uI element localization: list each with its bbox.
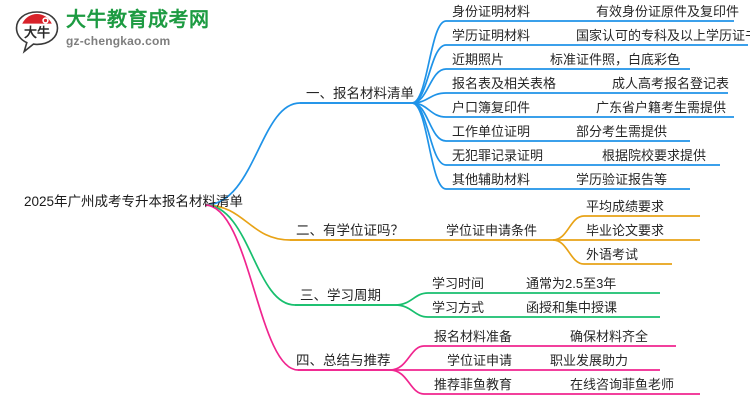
branch-node-1[interactable]: 一、报名材料清单 <box>306 85 414 104</box>
branch-1-detail-1[interactable]: 国家认可的专科及以上学历证书 <box>576 27 750 46</box>
branch-1-child-1[interactable]: 学历证明材料 <box>452 27 530 46</box>
branch-1-detail-4[interactable]: 广东省户籍考生需提供 <box>596 99 726 118</box>
branch-4-detail-1[interactable]: 职业发展助力 <box>550 352 628 371</box>
branch-1-detail-0[interactable]: 有效身份证原件及复印件 <box>596 3 739 22</box>
branch-4-child-1[interactable]: 学位证申请 <box>447 352 512 371</box>
branch-1-child-2[interactable]: 近期照片 <box>452 51 504 70</box>
branch-3-child-0[interactable]: 学习时间 <box>432 275 484 294</box>
branch-1-detail-2[interactable]: 标准证件照，白底彩色 <box>550 51 680 70</box>
branch-4-child-2[interactable]: 推荐菲鱼教育 <box>434 376 512 395</box>
branch-3-detail-1[interactable]: 函授和集中授课 <box>526 299 617 318</box>
branch-3-child-1[interactable]: 学习方式 <box>432 299 484 318</box>
branch-1-detail-7[interactable]: 学历验证报告等 <box>576 171 667 190</box>
branch-1-detail-5[interactable]: 部分考生需提供 <box>576 123 667 142</box>
branch-2-detail-0[interactable]: 平均成绩要求 <box>586 198 664 217</box>
branch-1-child-7[interactable]: 其他辅助材料 <box>452 171 530 190</box>
mindmap-root-node[interactable]: 2025年广州成考专升本报名材料清单 <box>24 193 243 212</box>
branch-1-detail-3[interactable]: 成人高考报名登记表 <box>612 75 729 94</box>
branch-4-child-0[interactable]: 报名材料准备 <box>434 328 512 347</box>
branch-1-child-6[interactable]: 无犯罪记录证明 <box>452 147 543 166</box>
branch-1-detail-6[interactable]: 根据院校要求提供 <box>602 147 706 166</box>
branch-1-child-5[interactable]: 工作单位证明 <box>452 123 530 142</box>
branch-node-2[interactable]: 二、有学位证吗？ <box>296 222 404 241</box>
branch-4-detail-2[interactable]: 在线咨询菲鱼老师 <box>570 376 674 395</box>
branch-1-child-3[interactable]: 报名表及相关表格 <box>452 75 556 94</box>
branch-2-detail-1[interactable]: 毕业论文要求 <box>586 222 664 241</box>
branch-2-detail-2[interactable]: 外语考试 <box>586 246 638 265</box>
branch-2-child-0[interactable]: 学位证申请条件 <box>446 222 537 241</box>
mindmap-canvas: 大牛 大牛教育成考网 gz-chengkao.com <box>0 0 750 410</box>
branch-4-detail-0[interactable]: 确保材料齐全 <box>570 328 648 347</box>
branch-node-4[interactable]: 四、总结与推荐 <box>296 352 391 371</box>
branch-1-child-4[interactable]: 户口簿复印件 <box>452 99 530 118</box>
branch-node-3[interactable]: 三、学习周期 <box>300 287 381 306</box>
branch-3-detail-0[interactable]: 通常为2.5至3年 <box>526 275 616 294</box>
branch-1-child-0[interactable]: 身份证明材料 <box>452 3 530 22</box>
